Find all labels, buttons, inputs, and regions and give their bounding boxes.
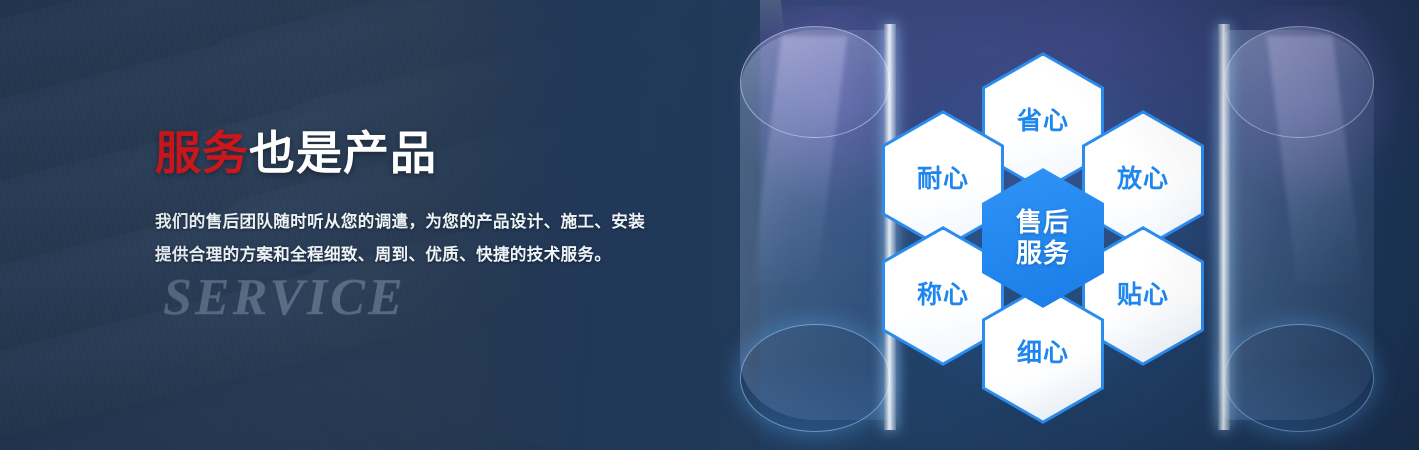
subtitle-line-1: 我们的售后团队随时听从您的调遣，为您的产品设计、施工、安装 xyxy=(155,206,755,239)
hex-center-line-2: 服务 xyxy=(1016,238,1070,268)
hex-petal-label: 省心 xyxy=(1017,107,1069,137)
glass-edge-highlight xyxy=(1218,24,1230,430)
hex-petal-label: 放心 xyxy=(1117,165,1169,195)
hex-petal-label: 称心 xyxy=(917,281,969,311)
service-banner: SERVICE 服务也是产品 我们的售后团队随时听从您的调遣，为您的产品设计、施… xyxy=(0,0,1419,450)
copy-block: 服务也是产品 我们的售后团队随时听从您的调遣，为您的产品设计、施工、安装 提供合… xyxy=(155,128,755,272)
hex-petal-label: 耐心 xyxy=(917,165,969,195)
page-title: 服务也是产品 xyxy=(155,128,755,180)
headline-rest: 也是产品 xyxy=(249,127,437,179)
hex-petal-label: 贴心 xyxy=(1117,281,1169,311)
glass-top-ellipse xyxy=(1224,26,1374,138)
subtitle-block: 我们的售后团队随时听从您的调遣，为您的产品设计、施工、安装 提供合理的方案和全程… xyxy=(155,206,755,272)
headline-accent: 服务 xyxy=(155,127,249,179)
service-watermark: SERVICE xyxy=(163,268,406,327)
hex-cluster: 省心 耐心 放心 称心 贴心 细心 售后 服务 xyxy=(868,52,1218,408)
glass-bottom-ellipse xyxy=(1224,324,1374,432)
hex-petal-label: 细心 xyxy=(1017,339,1069,369)
subtitle-line-2: 提供合理的方案和全程细致、周到、优质、快捷的技术服务。 xyxy=(155,239,755,272)
hex-center-line-1: 售后 xyxy=(1016,207,1070,237)
hex-center-label: 售后 服务 xyxy=(1016,207,1070,268)
glass-cylinder-right xyxy=(1224,30,1374,420)
